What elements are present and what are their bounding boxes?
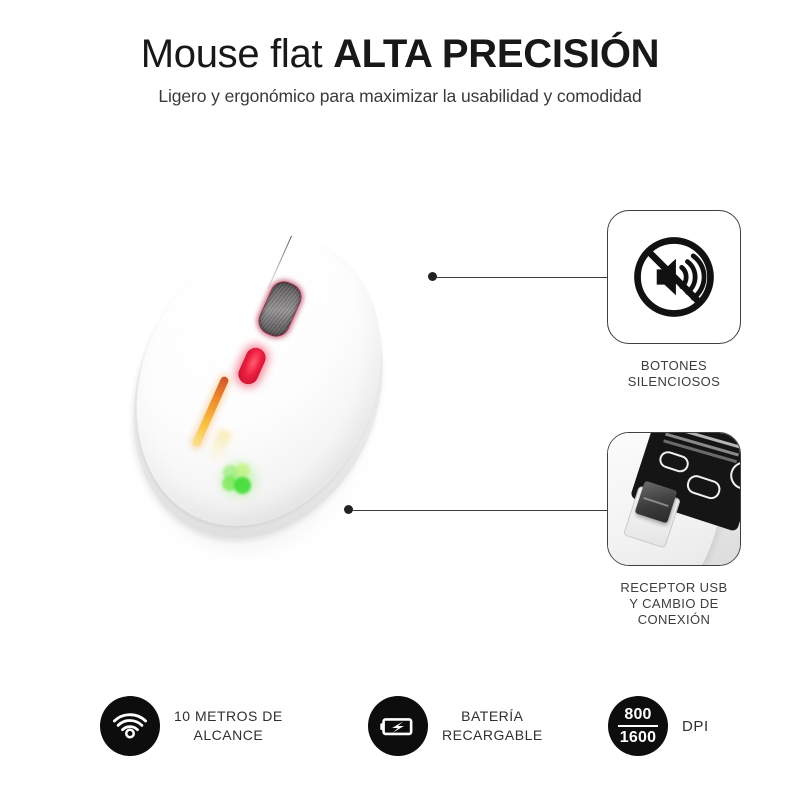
callout-silent-buttons: BOTONES SILENCIOSOS: [607, 210, 759, 390]
page-title: Mouse flat ALTA PRECISIÓN: [0, 28, 800, 80]
label-mark: [727, 458, 741, 493]
callout-box-usb-receiver: [607, 432, 741, 566]
label-mark: [657, 449, 691, 474]
battery-badge: [368, 696, 428, 756]
header: Mouse flat ALTA PRECISIÓN Ligero y ergon…: [0, 28, 800, 107]
mute-speaker-icon: [626, 229, 722, 325]
callout-usb-receiver: RECEPTOR USB Y CAMBIO DE CONEXIÓN: [607, 432, 759, 628]
title-bold-part: ALTA PRECISIÓN: [333, 32, 659, 76]
dpi-value-top: 800: [618, 706, 658, 723]
feature-range: 10 METROS DE ALCANCE: [100, 696, 283, 756]
feature-row: 10 METROS DE ALCANCE BATERÍA RECARGABLE …: [0, 688, 800, 768]
label-mark: [685, 473, 723, 502]
callout-caption-silent-buttons: BOTONES SILENCIOSOS: [589, 358, 759, 390]
dpi-value-bottom: 1600: [618, 729, 658, 746]
feature-label-dpi: DPI: [682, 718, 709, 735]
logo-dot: [234, 477, 251, 494]
feature-battery: BATERÍA RECARGABLE: [368, 696, 543, 756]
leader-line-silent: [436, 277, 608, 278]
label-text-lines: [667, 432, 741, 449]
wireless-signal-icon: [110, 706, 150, 746]
dpi-badge: 800 1600: [608, 696, 668, 756]
callout-caption-usb-receiver: RECEPTOR USB Y CAMBIO DE CONEXIÓN: [589, 580, 759, 628]
dpi-divider: [618, 725, 658, 727]
feature-label-battery: BATERÍA RECARGABLE: [442, 707, 543, 745]
feature-dpi: 800 1600 DPI: [608, 696, 709, 756]
feature-label-range: 10 METROS DE ALCANCE: [174, 707, 283, 745]
product-image: [95, 195, 475, 575]
callout-box-silent-buttons: [607, 210, 741, 344]
page-subtitle: Ligero y ergonómico para maximizar la us…: [0, 86, 800, 107]
range-badge: [100, 696, 160, 756]
title-light-part: Mouse flat: [141, 32, 333, 76]
leader-line-usb: [352, 510, 608, 511]
usb-receiver-photo: [608, 433, 740, 565]
rechargeable-battery-icon: [377, 705, 419, 747]
logo-glow: [215, 457, 261, 499]
dpi-values: 800 1600: [618, 706, 658, 746]
logo-dot: [235, 463, 250, 478]
mouse-illustration: [95, 195, 475, 575]
usb-dongle-detail: [643, 497, 668, 506]
